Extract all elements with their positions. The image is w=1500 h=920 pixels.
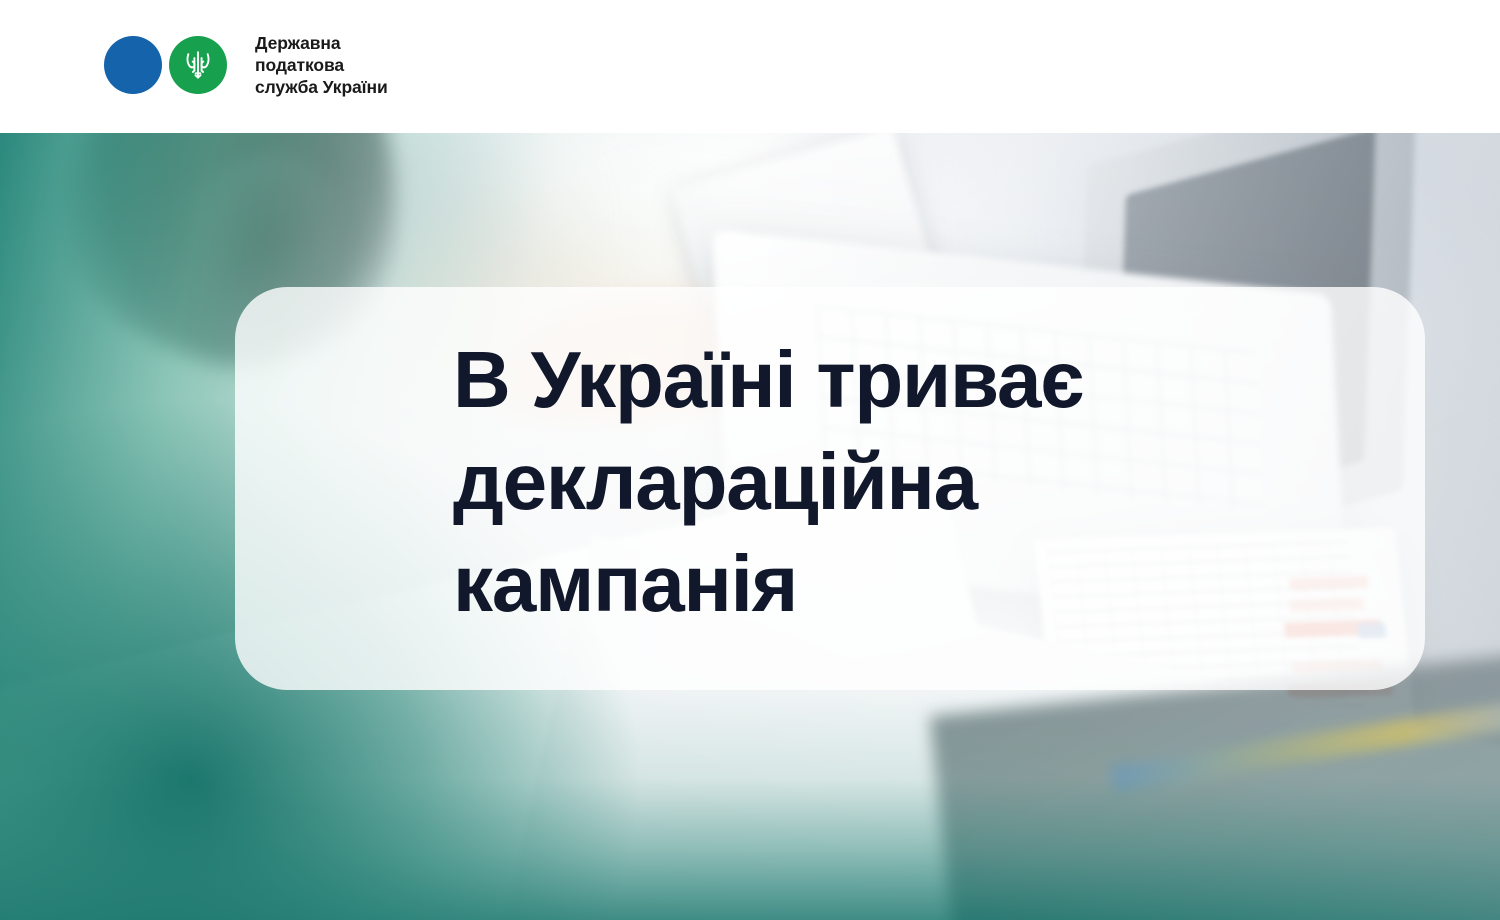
organization-name: Державна податкова служба України: [255, 32, 388, 98]
blue-circle-icon: [104, 36, 162, 94]
ukrainian-trident-icon: [184, 49, 212, 81]
green-circle-icon: [169, 36, 227, 94]
hero-title: В Україні триває деклараційна кампанія: [453, 329, 1333, 635]
hero-title-card: В Україні триває деклараційна кампанія: [235, 287, 1425, 690]
organization-logo[interactable]: Державна податкова служба України: [104, 32, 388, 98]
hero-background-photo: В Україні триває деклараційна кампанія: [0, 133, 1500, 920]
site-header: Державна податкова служба України: [0, 0, 1500, 133]
hero-banner-page: В Україні триває деклараційна кампанія: [0, 0, 1500, 920]
logo-marks: [104, 36, 227, 94]
